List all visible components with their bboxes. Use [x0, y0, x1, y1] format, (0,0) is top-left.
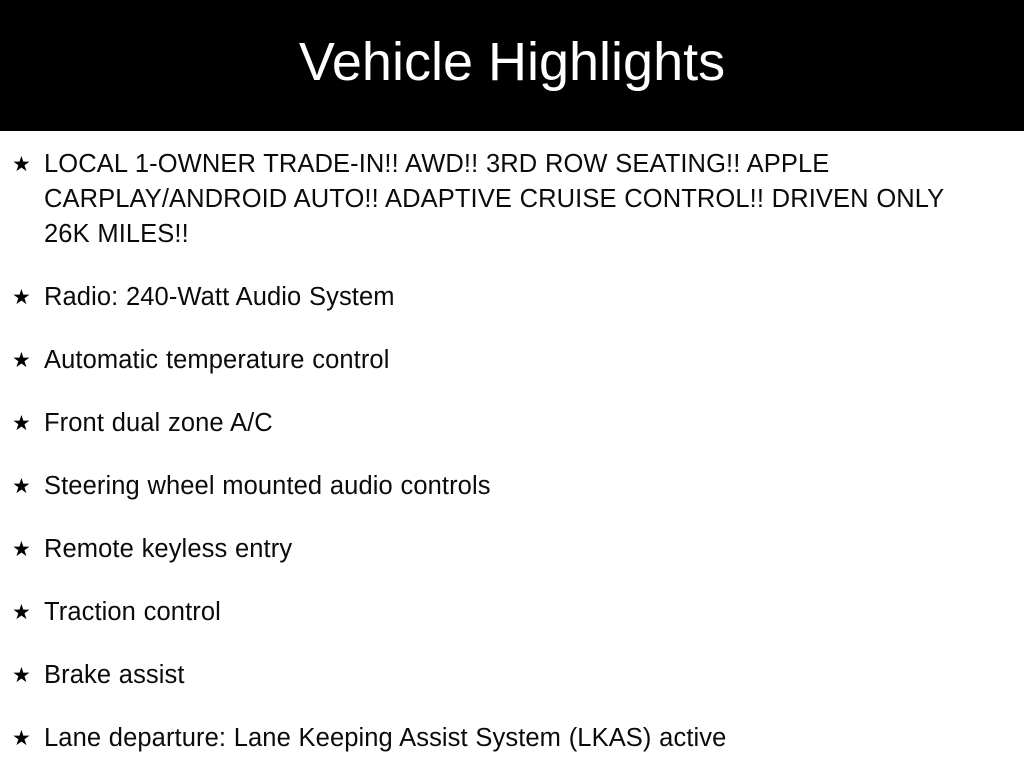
- highlight-text: Automatic temperature control: [44, 343, 964, 378]
- highlight-text: Front dual zone A/C: [44, 406, 964, 441]
- list-item: ★ Steering wheel mounted audio controls: [12, 469, 964, 504]
- list-item: ★ Remote keyless entry: [12, 532, 964, 567]
- page-title: Vehicle Highlights: [299, 34, 725, 97]
- star-bullet-icon: ★: [12, 406, 44, 441]
- list-item: ★ LOCAL 1-OWNER TRADE-IN!! AWD!! 3RD ROW…: [12, 147, 964, 252]
- star-bullet-icon: ★: [12, 147, 44, 182]
- star-bullet-icon: ★: [12, 343, 44, 378]
- star-bullet-icon: ★: [12, 658, 44, 693]
- list-item: ★ Front dual zone A/C: [12, 406, 964, 441]
- highlight-text: Steering wheel mounted audio controls: [44, 469, 964, 504]
- highlight-text: Traction control: [44, 595, 964, 630]
- highlight-text: Brake assist: [44, 658, 964, 693]
- list-item: ★ Brake assist: [12, 658, 964, 693]
- list-item: ★ Automatic temperature control: [12, 343, 964, 378]
- star-bullet-icon: ★: [12, 595, 44, 630]
- list-item: ★ Radio: 240-Watt Audio System: [12, 280, 964, 315]
- vehicle-highlights-page: Vehicle Highlights ★ LOCAL 1-OWNER TRADE…: [0, 0, 1024, 768]
- star-bullet-icon: ★: [12, 532, 44, 567]
- star-bullet-icon: ★: [12, 280, 44, 315]
- star-bullet-icon: ★: [12, 469, 44, 504]
- star-bullet-icon: ★: [12, 721, 44, 756]
- vehicle-highlights-list: ★ LOCAL 1-OWNER TRADE-IN!! AWD!! 3RD ROW…: [0, 131, 1024, 768]
- header-banner: Vehicle Highlights: [0, 0, 1024, 131]
- highlight-text: LOCAL 1-OWNER TRADE-IN!! AWD!! 3RD ROW S…: [44, 147, 964, 252]
- list-item: ★ Traction control: [12, 595, 964, 630]
- list-item: ★ Lane departure: Lane Keeping Assist Sy…: [12, 721, 964, 756]
- highlight-text: Remote keyless entry: [44, 532, 964, 567]
- highlight-text: Lane departure: Lane Keeping Assist Syst…: [44, 721, 964, 756]
- highlight-text: Radio: 240-Watt Audio System: [44, 280, 964, 315]
